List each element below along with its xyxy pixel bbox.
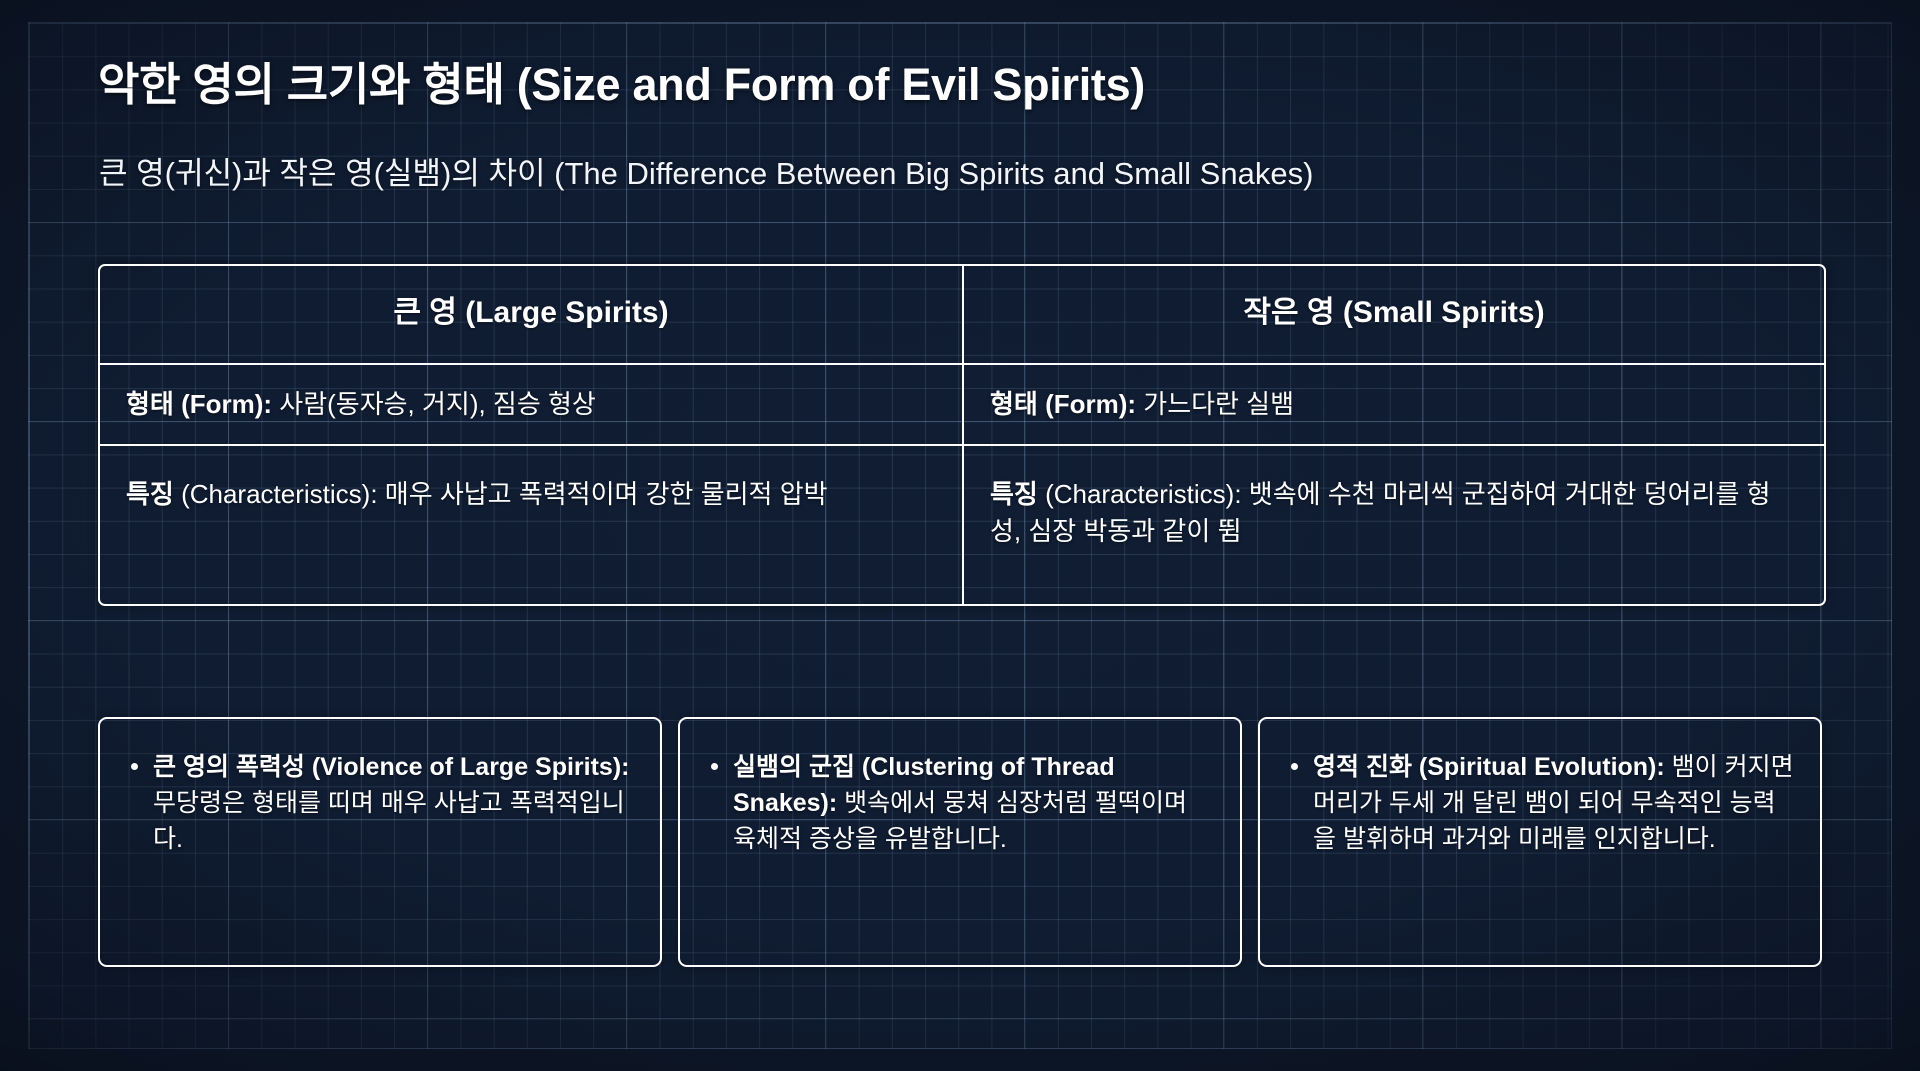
cell-text: 매우 사납고 폭력적이며 강한 물리적 압박	[378, 479, 828, 509]
summary-card-clustering: 실뱀의 군집 (Clustering of Thread Snakes): 뱃속…	[678, 717, 1242, 967]
table-row-characteristics: 특징 (Characteristics): 매우 사납고 폭력적이며 강한 물리…	[100, 444, 1824, 604]
list-item: 영적 진화 (Spiritual Evolution): 뱀이 커지면 머리가 …	[1286, 749, 1794, 857]
page-title: 악한 영의 크기와 형태 (Size and Form of Evil Spir…	[98, 58, 1145, 111]
summary-card-evolution: 영적 진화 (Spiritual Evolution): 뱀이 커지면 머리가 …	[1258, 717, 1822, 967]
summary-card-list: 큰 영의 폭력성 (Violence of Large Spirits): 무당…	[98, 717, 1822, 967]
table-header-small-spirits: 작은 영 (Small Spirits)	[962, 266, 1824, 363]
summary-card-violence: 큰 영의 폭력성 (Violence of Large Spirits): 무당…	[98, 717, 662, 967]
list-item: 큰 영의 폭력성 (Violence of Large Spirits): 무당…	[126, 749, 634, 857]
cell-label-bold: 특징	[990, 479, 1038, 509]
table-cell-form-small: 형태 (Form): 가느다란 실뱀	[962, 365, 1824, 444]
comparison-table: 큰 영 (Large Spirits) 작은 영 (Small Spirits)…	[98, 264, 1826, 606]
cell-label-bold: 특징	[126, 479, 174, 509]
cell-text: 사람(동자승, 거지), 짐승 형상	[272, 389, 596, 419]
table-header-row: 큰 영 (Large Spirits) 작은 영 (Small Spirits)	[100, 266, 1824, 363]
cell-label-normal: (Characteristics):	[1038, 479, 1242, 509]
page-subtitle: 큰 영(귀신)과 작은 영(실뱀)의 차이 (The Difference Be…	[99, 155, 1313, 192]
list-item: 실뱀의 군집 (Clustering of Thread Snakes): 뱃속…	[706, 749, 1214, 857]
slide-root: 악한 영의 크기와 형태 (Size and Form of Evil Spir…	[0, 0, 1920, 1071]
cell-label-bold: 형태 (Form):	[990, 389, 1136, 419]
cell-label-normal: (Characteristics):	[174, 479, 378, 509]
cell-text: 가느다란 실뱀	[1136, 389, 1294, 419]
card-body: 무당령은 형태를 띠며 매우 사납고 폭력적입니다.	[153, 789, 625, 853]
table-cell-form-large: 형태 (Form): 사람(동자승, 거지), 짐승 형상	[100, 365, 962, 444]
table-row-form: 형태 (Form): 사람(동자승, 거지), 짐승 형상 형태 (Form):…	[100, 363, 1824, 444]
card-heading: 큰 영의 폭력성 (Violence of Large Spirits):	[153, 753, 630, 781]
table-cell-characteristics-large: 특징 (Characteristics): 매우 사납고 폭력적이며 강한 물리…	[100, 446, 962, 604]
table-header-large-spirits: 큰 영 (Large Spirits)	[100, 266, 962, 363]
cell-label-bold: 형태 (Form):	[126, 389, 272, 419]
card-heading: 영적 진화 (Spiritual Evolution):	[1313, 753, 1665, 781]
slide-content: 악한 영의 크기와 형태 (Size and Form of Evil Spir…	[0, 0, 1920, 1071]
table-cell-characteristics-small: 특징 (Characteristics): 뱃속에 수천 마리씩 군집하여 거대…	[962, 446, 1824, 604]
